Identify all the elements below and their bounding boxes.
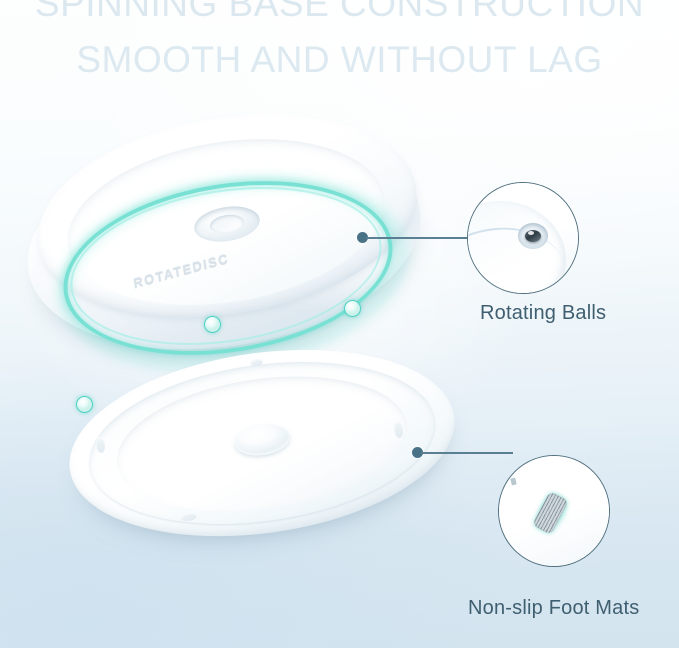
callout-non-slip-foot-mats: Non-slip Foot Mats [0,0,679,648]
callout-leader-line [421,452,513,454]
infographic-canvas: SPINNING BASE CONSTRUCTION SMOOTH AND WI… [0,0,679,648]
callout-detail-inset[interactable] [498,455,610,567]
callout-label-non-slip-foot-mats: Non-slip Foot Mats [468,597,639,620]
